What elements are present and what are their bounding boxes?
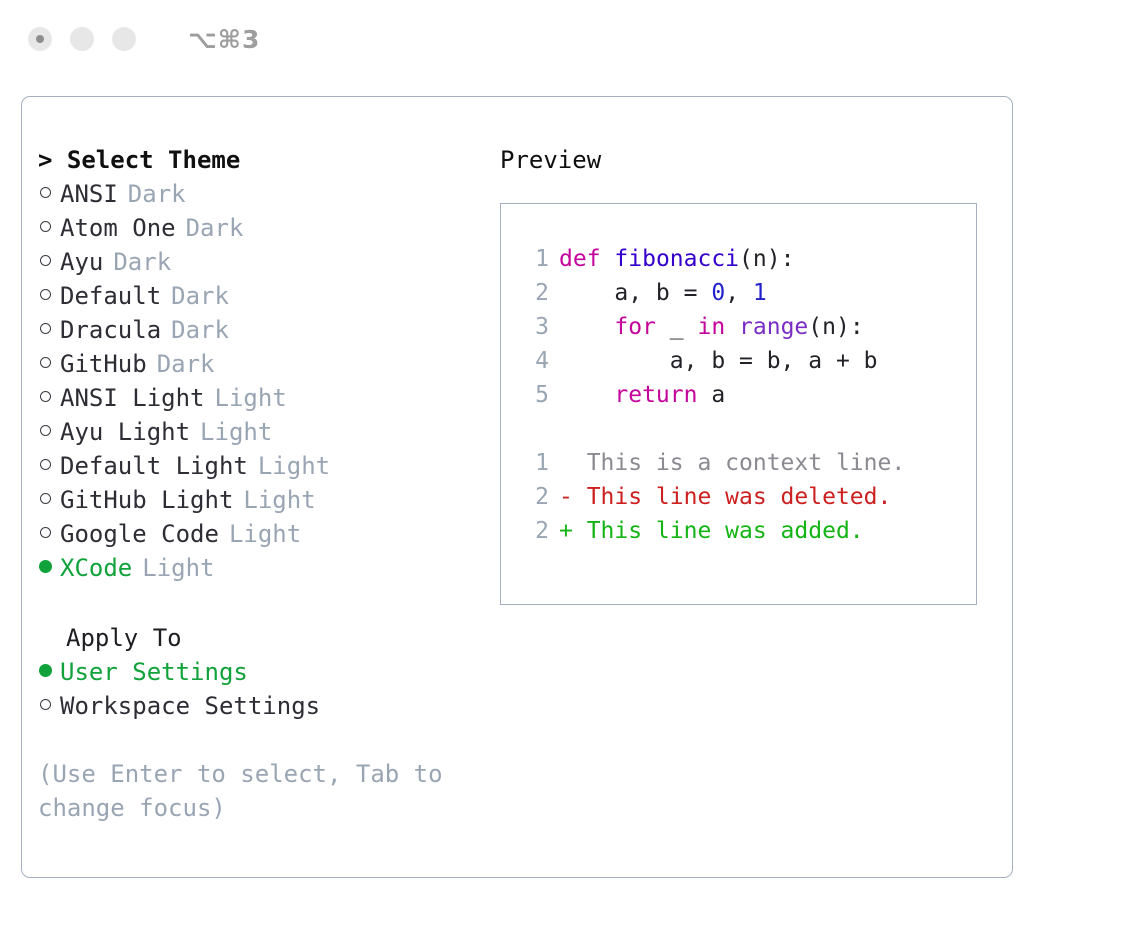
theme-option-github[interactable]: GitHubDark	[38, 347, 468, 381]
main-panel: > Select Theme ANSIDarkAtom OneDarkAyuDa…	[21, 96, 1013, 878]
token-fn: fibonacci	[614, 246, 739, 272]
apply-to-option-workspace-settings[interactable]: Workspace Settings	[38, 689, 468, 723]
line-number: 4	[515, 344, 549, 378]
apply-to-option-user-settings[interactable]: User Settings	[38, 655, 468, 689]
token-plain: (n):	[808, 314, 863, 340]
apply-to-option-label: Workspace Settings	[60, 689, 320, 723]
select-theme-heading: > Select Theme	[38, 143, 468, 177]
theme-option-default[interactable]: DefaultDark	[38, 279, 468, 313]
apply-to-heading: Apply To	[38, 621, 468, 655]
token-kw: def	[559, 246, 601, 272]
line-number: 2	[515, 276, 549, 310]
preview-heading: Preview	[500, 143, 1000, 177]
theme-option-list: ANSIDarkAtom OneDarkAyuDarkDefaultDarkDr…	[38, 177, 468, 585]
app-window: ⌥⌘3 > Select Theme ANSIDarkAtom OneDarkA…	[0, 0, 1140, 934]
diff-line: 2+ This line was added.	[515, 514, 976, 548]
theme-option-kind: Dark	[128, 177, 186, 211]
theme-option-label: GitHub	[60, 347, 147, 381]
line-content: a, b = 0, 1	[559, 276, 767, 310]
line-number: 2	[515, 480, 549, 514]
traffic-light-group	[28, 27, 136, 51]
theme-option-kind: Light	[229, 517, 301, 551]
theme-option-ayu[interactable]: AyuDark	[38, 245, 468, 279]
theme-picker-column: > Select Theme ANSIDarkAtom OneDarkAyuDa…	[38, 143, 468, 825]
apply-to-option-label: User Settings	[60, 655, 248, 689]
code-line: 5 return a	[515, 378, 976, 412]
theme-option-ayu-light[interactable]: Ayu LightLight	[38, 415, 468, 449]
line-content: This is a context line.	[559, 446, 905, 480]
line-number: 1	[515, 446, 549, 480]
theme-option-label: Default Light	[60, 449, 248, 483]
theme-option-label: Google Code	[60, 517, 219, 551]
theme-option-kind: Dark	[157, 347, 215, 381]
token-plain: a, b = b, a + b	[559, 348, 878, 374]
line-number: 2	[515, 514, 549, 548]
title-bar: ⌥⌘3	[0, 0, 1140, 78]
token-kw: return	[614, 382, 697, 408]
theme-option-ansi[interactable]: ANSIDark	[38, 177, 468, 211]
preview-box: 1def fibonacci(n):2 a, b = 0, 13 for _ i…	[500, 203, 977, 605]
line-content: a, b = b, a + b	[559, 344, 878, 378]
token-kw: in	[697, 314, 725, 340]
theme-option-atom-one[interactable]: Atom OneDark	[38, 211, 468, 245]
token-plain	[559, 314, 614, 340]
apply-to-option-list: User SettingsWorkspace Settings	[38, 655, 468, 723]
code-spacer	[515, 412, 976, 446]
token-plain: (n):	[739, 246, 794, 272]
line-content: - This line was deleted.	[559, 480, 891, 514]
theme-option-google-code[interactable]: Google CodeLight	[38, 517, 468, 551]
token-plain: ,	[725, 280, 753, 306]
line-number: 3	[515, 310, 549, 344]
theme-option-kind: Light	[258, 449, 330, 483]
token-call: range	[739, 314, 808, 340]
code-line: 4 a, b = b, a + b	[515, 344, 976, 378]
diff-sample: 1 This is a context line.2- This line wa…	[515, 446, 976, 548]
theme-option-label: GitHub Light	[60, 483, 233, 517]
theme-option-label: Ayu	[60, 245, 103, 279]
theme-option-kind: Light	[215, 381, 287, 415]
token-plain	[601, 246, 615, 272]
keyboard-shortcut-label: ⌥⌘3	[188, 25, 260, 54]
theme-option-kind: Light	[142, 551, 214, 585]
theme-option-kind: Dark	[186, 211, 244, 245]
theme-option-kind: Dark	[171, 313, 229, 347]
line-content: def fibonacci(n):	[559, 242, 794, 276]
code-sample: 1def fibonacci(n):2 a, b = 0, 13 for _ i…	[515, 242, 976, 412]
token-add: + This line was added.	[559, 518, 864, 544]
theme-option-label: Dracula	[60, 313, 161, 347]
theme-option-ansi-light[interactable]: ANSI LightLight	[38, 381, 468, 415]
maximize-window-button[interactable]	[112, 27, 136, 51]
diff-line: 1 This is a context line.	[515, 446, 976, 480]
line-content: for _ in range(n):	[559, 310, 864, 344]
preview-column: Preview 1def fibonacci(n):2 a, b = 0, 13…	[500, 143, 1000, 605]
theme-option-kind: Dark	[171, 279, 229, 313]
token-del: - This line was deleted.	[559, 484, 891, 510]
diff-line: 2- This line was deleted.	[515, 480, 976, 514]
theme-option-kind: Light	[243, 483, 315, 517]
token-ctx: This is a context line.	[559, 450, 905, 476]
theme-option-dracula[interactable]: DraculaDark	[38, 313, 468, 347]
token-num: 1	[753, 280, 767, 306]
theme-option-xcode[interactable]: XCodeLight	[38, 551, 468, 585]
minimize-window-button[interactable]	[70, 27, 94, 51]
line-number: 1	[515, 242, 549, 276]
code-line: 2 a, b = 0, 1	[515, 276, 976, 310]
close-window-button[interactable]	[28, 27, 52, 51]
token-plain	[725, 314, 739, 340]
token-plain: a, b =	[559, 280, 711, 306]
line-content: + This line was added.	[559, 514, 864, 548]
theme-option-label: ANSI Light	[60, 381, 205, 415]
token-plain: a	[697, 382, 725, 408]
theme-option-kind: Dark	[113, 245, 171, 279]
keyboard-hint-text: (Use Enter to select, Tab to change focu…	[38, 757, 448, 825]
theme-option-label: Ayu Light	[60, 415, 190, 449]
token-plain	[559, 382, 614, 408]
theme-option-label: ANSI	[60, 177, 118, 211]
theme-option-label: XCode	[60, 551, 132, 585]
token-plain: _	[656, 314, 698, 340]
token-kw: for	[614, 314, 656, 340]
code-line: 3 for _ in range(n):	[515, 310, 976, 344]
code-line: 1def fibonacci(n):	[515, 242, 976, 276]
line-content: return a	[559, 378, 725, 412]
theme-option-default-light[interactable]: Default LightLight	[38, 449, 468, 483]
theme-option-kind: Light	[200, 415, 272, 449]
line-number: 5	[515, 378, 549, 412]
theme-option-label: Default	[60, 279, 161, 313]
theme-option-github-light[interactable]: GitHub LightLight	[38, 483, 468, 517]
theme-option-label: Atom One	[60, 211, 176, 245]
token-num: 0	[711, 280, 725, 306]
